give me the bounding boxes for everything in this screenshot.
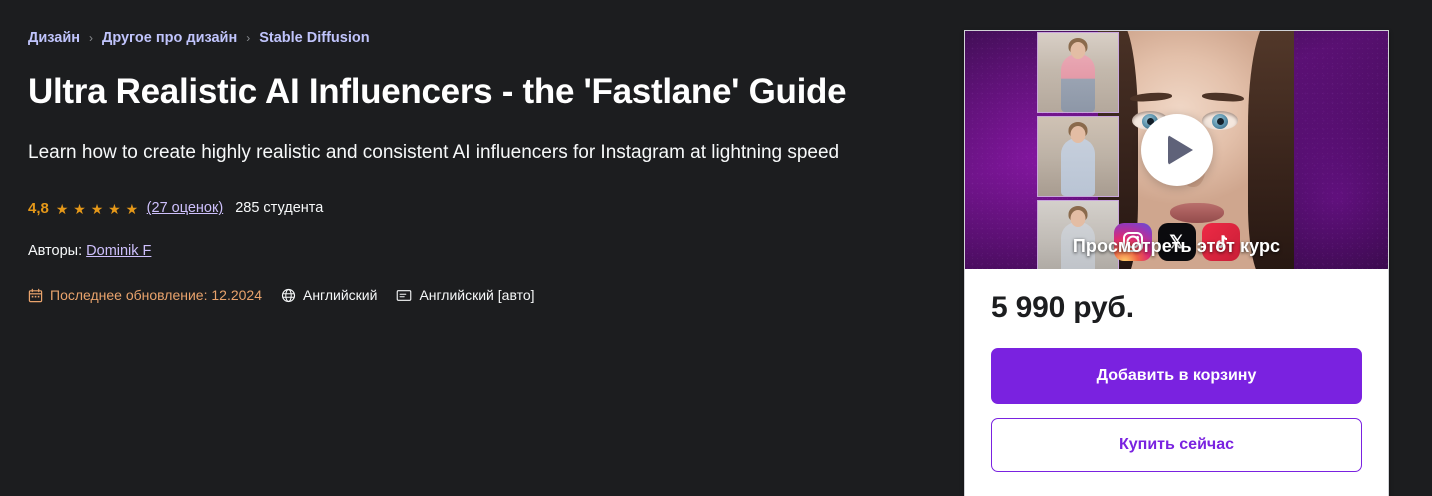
- rating-value: 4,8: [28, 201, 49, 216]
- course-price: 5 990 руб.: [991, 291, 1362, 324]
- globe-icon: [281, 288, 296, 303]
- thumbnail-figure: [1061, 138, 1095, 196]
- buy-now-button[interactable]: Купить сейчас: [991, 418, 1362, 472]
- purchase-card-body: 5 990 руб. Добавить в корзину Купить сей…: [965, 269, 1388, 496]
- closed-caption-icon: [396, 288, 412, 303]
- face-pupil-right: [1217, 118, 1224, 125]
- purchase-card: 𝕏 Просмотреть этот курс 5 990 руб. Добав…: [964, 30, 1389, 496]
- face-eye-right: [1202, 111, 1238, 130]
- calendar-icon: [28, 288, 43, 303]
- play-triangle: [1168, 135, 1193, 165]
- authors-label: Авторы:: [28, 243, 82, 259]
- last-updated-text: Последнее обновление: 12.2024: [50, 287, 262, 303]
- thumbnail-head: [1071, 42, 1086, 59]
- captions-item: Английский [авто]: [396, 287, 534, 303]
- language-text: Английский: [303, 287, 377, 303]
- preview-thumbnail: [1037, 116, 1119, 197]
- last-updated-item: Последнее обновление: 12.2024: [28, 287, 262, 303]
- add-to-cart-button[interactable]: Добавить в корзину: [991, 348, 1362, 404]
- chevron-right-icon: ›: [246, 31, 250, 45]
- authors-row: Авторы: Dominik F: [28, 243, 940, 259]
- thumbnail-figure: [1061, 54, 1095, 112]
- course-preview-video[interactable]: 𝕏 Просмотреть этот курс: [965, 31, 1388, 269]
- page-title: Ultra Realistic AI Influencers - the 'Fa…: [28, 71, 898, 114]
- breadcrumb-item-other-design[interactable]: Другое про дизайн: [102, 30, 237, 47]
- star-rating-icon: ★ ★ ★ ★ ★: [56, 202, 139, 216]
- course-info-panel: Дизайн › Другое про дизайн › Stable Diff…: [0, 0, 940, 303]
- rating-row: 4,8 ★ ★ ★ ★ ★ (27 оценок) 285 студента: [28, 201, 940, 216]
- preview-thumbnail: [1037, 200, 1119, 269]
- breadcrumb-item-design[interactable]: Дизайн: [28, 30, 80, 47]
- breadcrumb: Дизайн › Другое про дизайн › Stable Diff…: [28, 30, 940, 47]
- play-icon[interactable]: [1141, 114, 1213, 186]
- thumbnail-head: [1071, 126, 1086, 143]
- captions-text: Английский [авто]: [419, 287, 534, 303]
- breadcrumb-item-stable-diffusion[interactable]: Stable Diffusion: [259, 30, 369, 47]
- reviews-count-link[interactable]: (27 оценок): [147, 201, 224, 216]
- preview-thumbnail: [1037, 32, 1119, 113]
- preview-caption: Просмотреть этот курс: [965, 236, 1388, 257]
- chevron-right-icon: ›: [89, 31, 93, 45]
- face-hair-right: [1248, 31, 1294, 269]
- students-count: 285 студента: [235, 201, 323, 216]
- author-link[interactable]: Dominik F: [86, 243, 151, 259]
- preview-thumbnail-strip: [1037, 31, 1119, 269]
- language-item: Английский: [281, 287, 377, 303]
- course-headline: Learn how to create highly realistic and…: [28, 140, 858, 167]
- face-brow-right: [1202, 92, 1244, 103]
- face-lips: [1170, 203, 1224, 223]
- thumbnail-head: [1071, 210, 1086, 227]
- face-iris-right: [1212, 114, 1228, 129]
- course-meta-row: Последнее обновление: 12.2024 Английский…: [28, 287, 940, 303]
